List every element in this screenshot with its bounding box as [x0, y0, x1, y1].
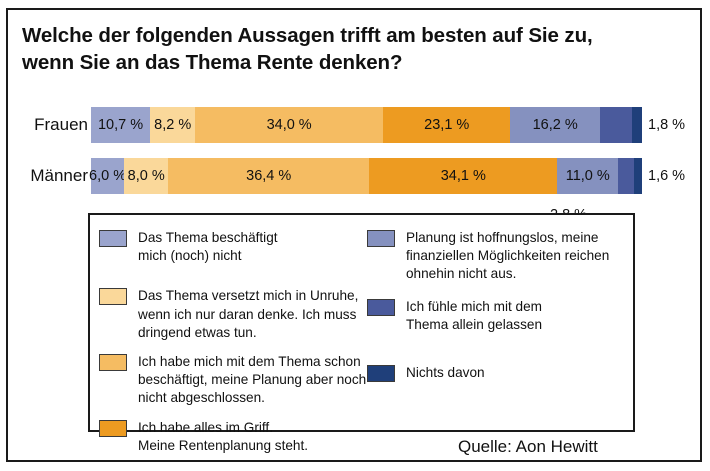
legend-item-hoffnungslos: Planung ist hoffnungslos, meine finanzie…	[367, 229, 629, 284]
category-label-maenner: Männer	[12, 158, 88, 194]
segment-label: 10,7 %	[98, 118, 143, 133]
infographic-root: Welche der folgenden Aussagen trifft am …	[0, 0, 710, 471]
segment-maenner-4: 34,1 %	[369, 158, 557, 194]
segment-maenner-5: 11,0 %	[557, 158, 618, 194]
legend-swatch-icon	[367, 230, 395, 247]
title-line-2: wenn Sie an das Thema Rente denken?	[22, 49, 672, 76]
legend-label-line: Ich habe alles im Griff.	[138, 419, 308, 437]
legend-column-right: Planung ist hoffnungslos, meine finanzie…	[367, 229, 629, 388]
legend-label-line: Das Thema beschäftigt	[138, 229, 278, 247]
segment-maenner-3: 36,4 %	[168, 158, 369, 194]
legend-swatch-icon	[99, 420, 127, 437]
legend-swatch-icon	[367, 299, 395, 316]
legend-label: Ich fühle mich mit dem Thema allein gela…	[406, 298, 542, 334]
legend-swatch-icon	[367, 365, 395, 382]
legend-label: Planung ist hoffnungslos, meine finanzie…	[406, 229, 609, 284]
segment-frauen-7	[632, 107, 642, 143]
chart-row-frauen: Frauen 5,9 % 10,7 % 8,2 % 34,0 % 23,1 % …	[0, 107, 710, 143]
legend-label: Ich habe mich mit dem Thema schon beschä…	[138, 353, 366, 408]
legend-item-nichts-davon: Nichts davon	[367, 364, 629, 382]
page-title: Welche der folgenden Aussagen trifft am …	[22, 22, 672, 77]
stacked-bar-chart: Frauen 5,9 % 10,7 % 8,2 % 34,0 % 23,1 % …	[0, 88, 710, 203]
segment-maenner-7	[634, 158, 643, 194]
chart-row-maenner: Männer 6,0 % 8,0 % 36,4 % 34,1 % 11,0 %	[0, 158, 710, 194]
segment-label: 23,1 %	[424, 118, 469, 133]
legend-label-line: ohnehin nicht aus.	[406, 265, 609, 283]
legend-column-left: Das Thema beschäftigt mich (noch) nicht …	[99, 229, 367, 461]
legend-label-line: Nichts davon	[406, 364, 485, 382]
segment-frauen-3: 34,0 %	[195, 107, 383, 143]
segment-label: 36,4 %	[246, 169, 291, 184]
legend-label-line: Ich habe mich mit dem Thema schon	[138, 353, 366, 371]
legend-swatch-icon	[99, 230, 127, 247]
legend-label-line: wenn ich nur daran denke. Ich muss	[138, 306, 358, 324]
legend-item-alles-im-griff: Ich habe alles im Griff. Meine Rentenpla…	[99, 419, 367, 455]
legend-label: Das Thema beschäftigt mich (noch) nicht	[138, 229, 278, 265]
segment-frauen-2: 8,2 %	[150, 107, 195, 143]
source-note: Quelle: Aon Hewitt	[458, 437, 598, 457]
legend-label-line: Ich fühle mich mit dem	[406, 298, 542, 316]
segment-frauen-5: 16,2 %	[510, 107, 599, 143]
legend-label-line: mich (noch) nicht	[138, 247, 278, 265]
legend-item-allein-gelassen: Ich fühle mich mit dem Thema allein gela…	[367, 298, 629, 334]
segment-label: 8,2 %	[154, 118, 191, 133]
segment-label: 11,0 %	[566, 169, 610, 184]
segment-frauen-6	[600, 107, 633, 143]
legend-swatch-icon	[99, 354, 127, 371]
segment-label: 34,1 %	[441, 169, 486, 184]
segment-label: 34,0 %	[267, 118, 312, 133]
segment-maenner-1: 6,0 %	[91, 158, 124, 194]
bar-maenner: 6,0 % 8,0 % 36,4 % 34,1 % 11,0 %	[91, 158, 643, 194]
legend-label-line: dringend etwas tun.	[138, 324, 358, 342]
tail-label-maenner-segment-7: 1,6 %	[648, 158, 685, 194]
segment-maenner-6	[618, 158, 633, 194]
tail-label-frauen-segment-7: 1,8 %	[648, 107, 685, 143]
bar-frauen: 10,7 % 8,2 % 34,0 % 23,1 % 16,2 %	[91, 107, 643, 143]
legend-item-planung-nicht-abgeschlossen: Ich habe mich mit dem Thema schon beschä…	[99, 353, 367, 408]
segment-label: 6,0 %	[89, 169, 126, 184]
segment-label: 16,2 %	[533, 118, 578, 133]
legend-label-line: nicht abgeschlossen.	[138, 389, 366, 407]
category-label-frauen: Frauen	[12, 107, 88, 143]
legend-label-line: Das Thema versetzt mich in Unruhe,	[138, 287, 358, 305]
legend-swatch-icon	[99, 288, 127, 305]
segment-maenner-2: 8,0 %	[124, 158, 168, 194]
legend: Das Thema beschäftigt mich (noch) nicht …	[88, 213, 635, 432]
segment-frauen-1: 10,7 %	[91, 107, 150, 143]
legend-label-line: Planung ist hoffnungslos, meine	[406, 229, 609, 247]
legend-item-thema-noch-nicht: Das Thema beschäftigt mich (noch) nicht	[99, 229, 367, 265]
legend-label-line: beschäftigt, meine Planung aber noch	[138, 371, 366, 389]
legend-item-unruhe: Das Thema versetzt mich in Unruhe, wenn …	[99, 287, 367, 342]
legend-label: Ich habe alles im Griff. Meine Rentenpla…	[138, 419, 308, 455]
legend-label-line: finanziellen Möglichkeiten reichen	[406, 247, 609, 265]
legend-label: Das Thema versetzt mich in Unruhe, wenn …	[138, 287, 358, 342]
title-line-1: Welche der folgenden Aussagen trifft am …	[22, 24, 593, 47]
segment-frauen-4: 23,1 %	[383, 107, 511, 143]
segment-label: 8,0 %	[128, 169, 165, 184]
legend-label-line: Thema allein gelassen	[406, 316, 542, 334]
legend-label-line: Meine Rentenplanung steht.	[138, 437, 308, 455]
legend-label: Nichts davon	[406, 364, 485, 382]
